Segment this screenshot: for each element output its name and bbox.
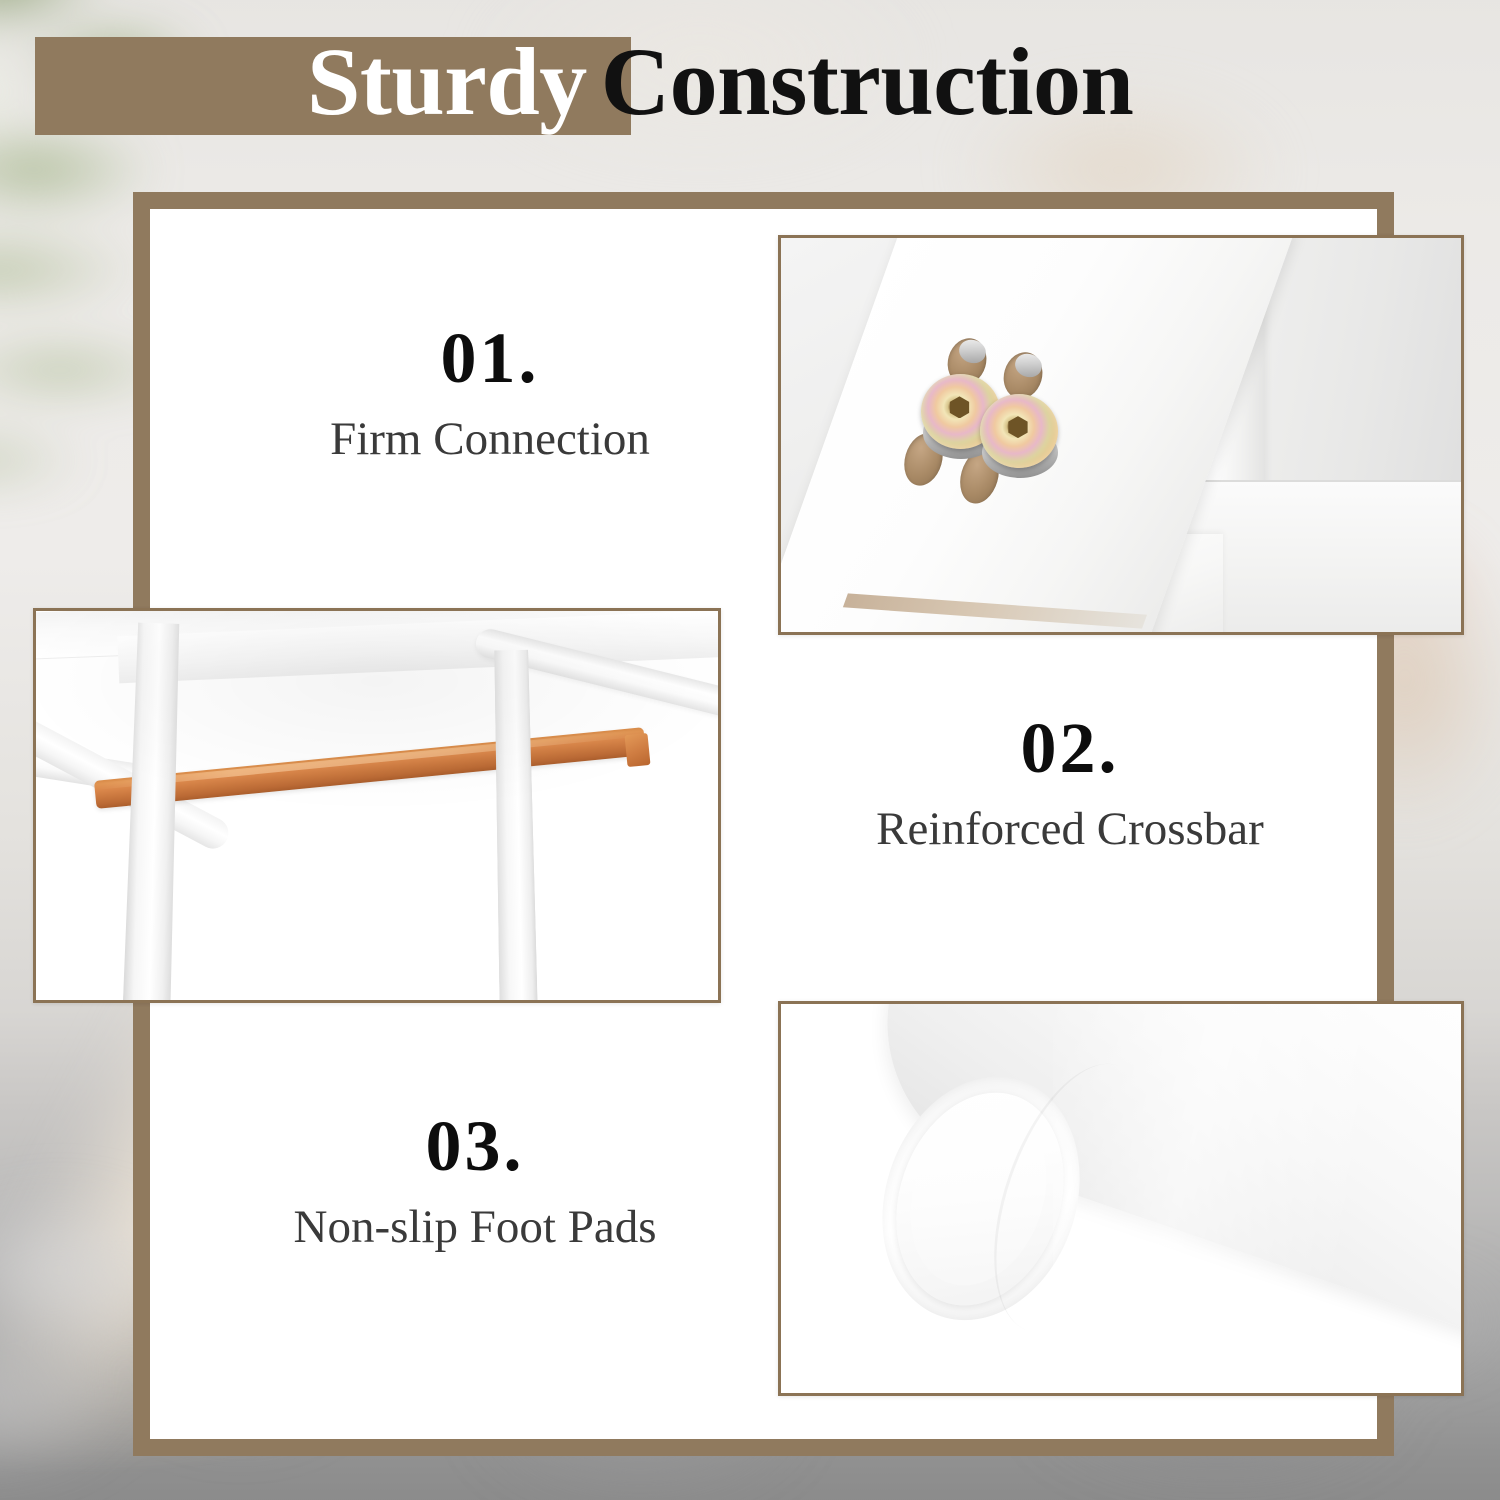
feature-3-caption: Non-slip Foot Pads: [215, 1200, 735, 1255]
photo-2-canvas: [36, 611, 718, 1000]
corner-bracket-cam-lock-photo: [778, 235, 1464, 635]
feature-3-text-block: 03. Non-slip Foot Pads: [215, 1110, 735, 1255]
feature-1-number: 01.: [235, 322, 745, 394]
page-title-rest: Construction: [601, 28, 1134, 135]
feature-2-number: 02.: [800, 712, 1340, 784]
photo-3-canvas: [781, 1004, 1461, 1393]
feature-1-text-block: 01. Firm Connection: [235, 322, 745, 467]
photo-3-light-sheen: [1053, 1001, 1461, 1396]
feature-3-number: 03.: [215, 1110, 735, 1182]
page-title-highlight: Sturdy: [307, 28, 587, 135]
page-title: SturdyConstruction: [35, 22, 1335, 142]
feature-1-caption: Firm Connection: [235, 412, 745, 467]
page-title-bar: SturdyConstruction: [0, 0, 1500, 150]
feature-2-caption: Reinforced Crossbar: [800, 802, 1340, 857]
feature-2-text-block: 02. Reinforced Crossbar: [800, 712, 1340, 857]
wooden-crossbar-photo: [33, 608, 721, 1003]
photo-2-soft-shadow: [36, 611, 718, 1000]
photo-1-canvas: [781, 238, 1461, 632]
foot-pad-photo: [778, 1001, 1464, 1396]
